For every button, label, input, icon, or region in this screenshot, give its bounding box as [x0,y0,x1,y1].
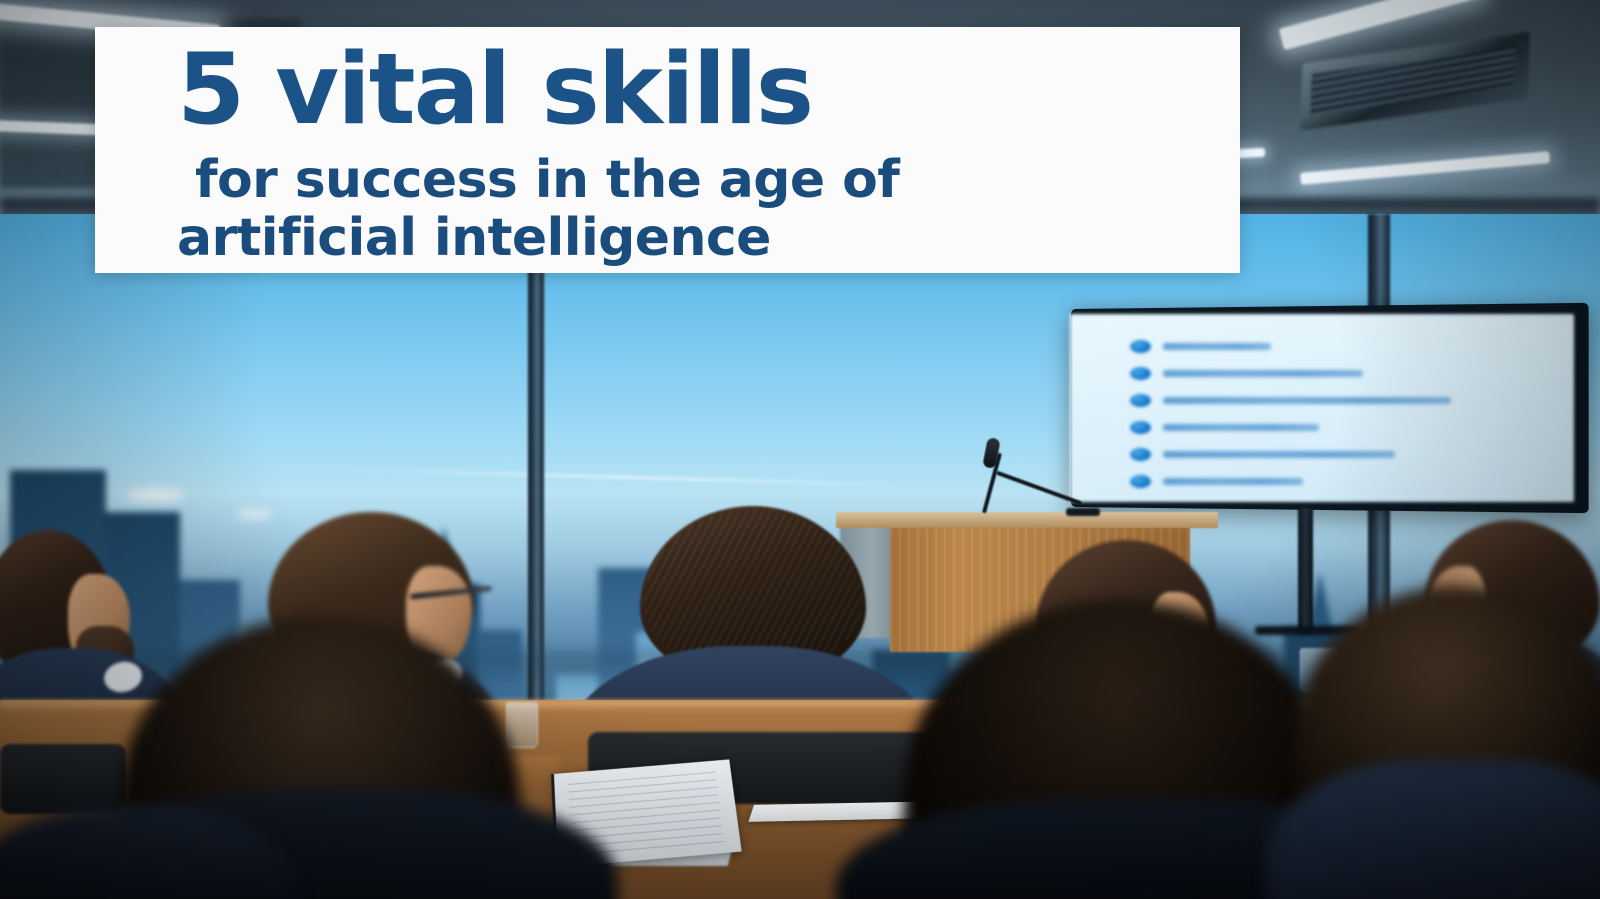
title-banner: 5 vital skills for success in the age of… [95,27,1240,273]
bullet-dot-icon [1130,448,1151,461]
office-chair [0,744,126,814]
window-mullion [528,214,544,774]
page-title: 5 vital skills [177,41,1240,141]
slide-bullet-row [1130,471,1564,492]
slide-bullet-list [1130,336,1564,498]
subtitle-line-1: for success in the age of [195,150,899,210]
microphone-base [1066,508,1100,516]
slide-bullet-text [1163,478,1303,485]
screen-stand-pole [1298,508,1313,634]
slide-bullet-text [1163,451,1395,458]
slide-bullet-text [1163,343,1271,350]
bullet-dot-icon [1130,421,1151,434]
screen-surface [1070,314,1574,502]
slide-bullet-row [1130,417,1564,438]
slide-bullet-row [1130,336,1564,357]
water-glass [506,702,538,748]
presentation-photo-scene: 5 vital skills for success in the age of… [0,0,1600,899]
slide-bullet-text [1163,424,1319,431]
slide-bullet-row [1130,390,1564,411]
slide-bullet-text [1163,370,1363,377]
subtitle-line-2: artificial intelligence [177,209,1125,267]
bullet-dot-icon [1130,475,1151,488]
page-subtitle: for success in the age of artificial int… [195,151,1125,267]
slide-bullet-row [1130,444,1564,465]
presentation-screen[interactable] [1062,306,1582,510]
ceiling-light-icon [1300,151,1550,185]
slide-bullet-text [1163,397,1451,404]
ceiling-air-vent-icon [1300,32,1530,131]
bullet-dot-icon [1130,367,1151,380]
bullet-dot-icon [1130,340,1151,353]
bullet-dot-icon [1130,394,1151,407]
slide-bullet-row [1130,363,1564,384]
